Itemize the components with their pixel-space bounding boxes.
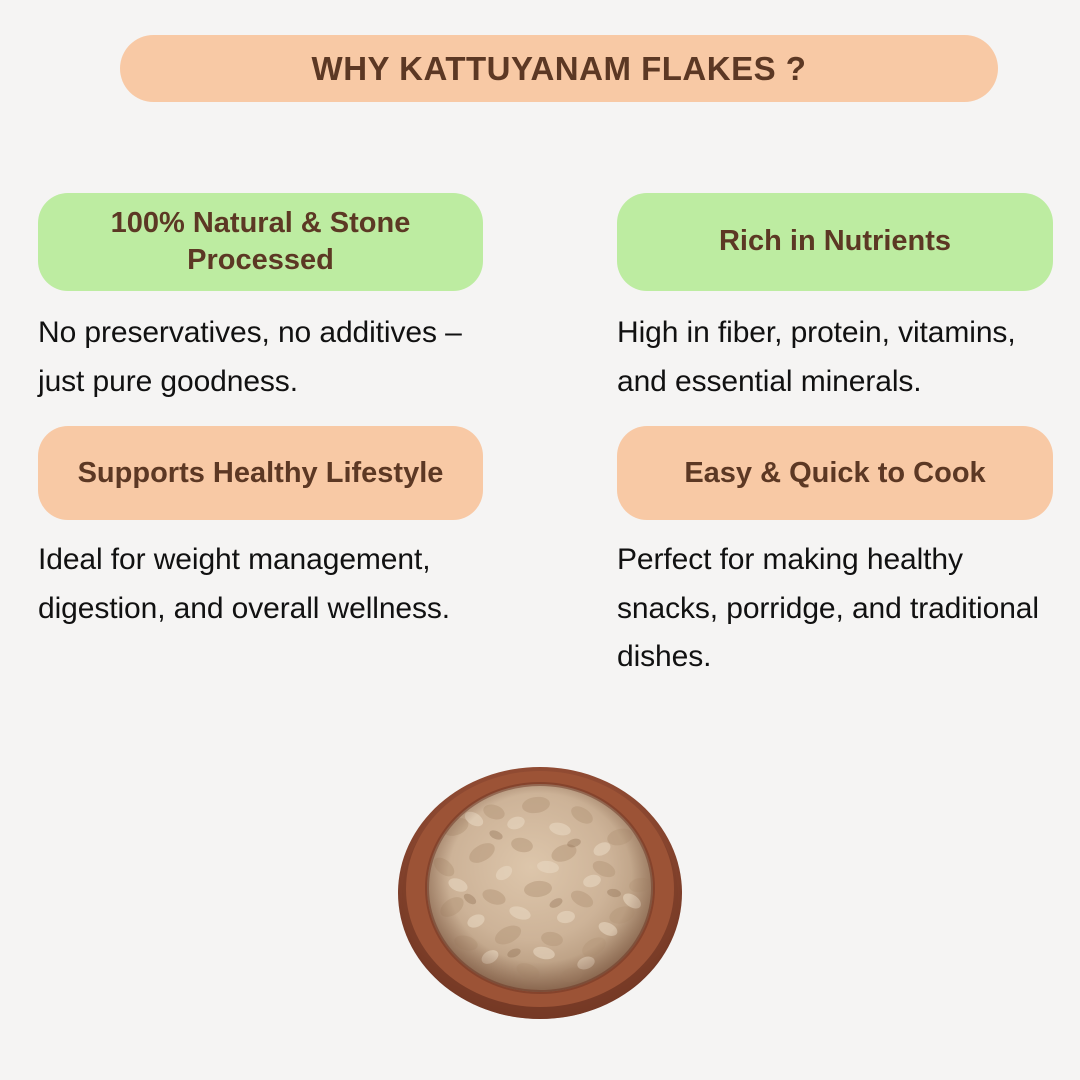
page-title: WHY KATTUYANAM FLAKES ? [312, 50, 807, 88]
feature-heading-label: 100% Natural & Stone Processed [52, 205, 469, 279]
infographic-page: WHY KATTUYANAM FLAKES ? 100% Natural & S… [0, 0, 1080, 1080]
feature-row-2: Supports Healthy Lifestyle Ideal for wei… [0, 426, 1080, 682]
feature-body-cook: Perfect for making healthy snacks, porri… [617, 536, 1053, 682]
feature-heading-label: Rich in Nutrients [719, 223, 951, 260]
feature-heading-label: Supports Healthy Lifestyle [78, 455, 444, 492]
feature-block-lifestyle: Supports Healthy Lifestyle Ideal for wei… [0, 426, 540, 682]
feature-block-nutrients: Rich in Nutrients High in fiber, protein… [540, 193, 1080, 406]
row-spacer [0, 406, 1080, 426]
bowl-of-rice-flakes-image [396, 757, 684, 1027]
feature-heading-label: Easy & Quick to Cook [684, 455, 985, 492]
feature-heading-pill-cook: Easy & Quick to Cook [617, 426, 1053, 520]
feature-heading-pill-lifestyle: Supports Healthy Lifestyle [38, 426, 483, 520]
feature-body-natural: No preservatives, no additives – just pu… [38, 309, 483, 406]
bowl-illustration [396, 757, 684, 1027]
features-grid: 100% Natural & Stone Processed No preser… [0, 193, 1080, 682]
feature-block-natural: 100% Natural & Stone Processed No preser… [0, 193, 540, 406]
feature-block-cook: Easy & Quick to Cook Perfect for making … [540, 426, 1080, 682]
feature-heading-pill-nutrients: Rich in Nutrients [617, 193, 1053, 291]
feature-body-lifestyle: Ideal for weight management, digestion, … [38, 536, 483, 633]
feature-heading-pill-natural: 100% Natural & Stone Processed [38, 193, 483, 291]
feature-row-1: 100% Natural & Stone Processed No preser… [0, 193, 1080, 406]
feature-body-nutrients: High in fiber, protein, vitamins, and es… [617, 309, 1053, 406]
header-banner: WHY KATTUYANAM FLAKES ? [120, 35, 998, 102]
